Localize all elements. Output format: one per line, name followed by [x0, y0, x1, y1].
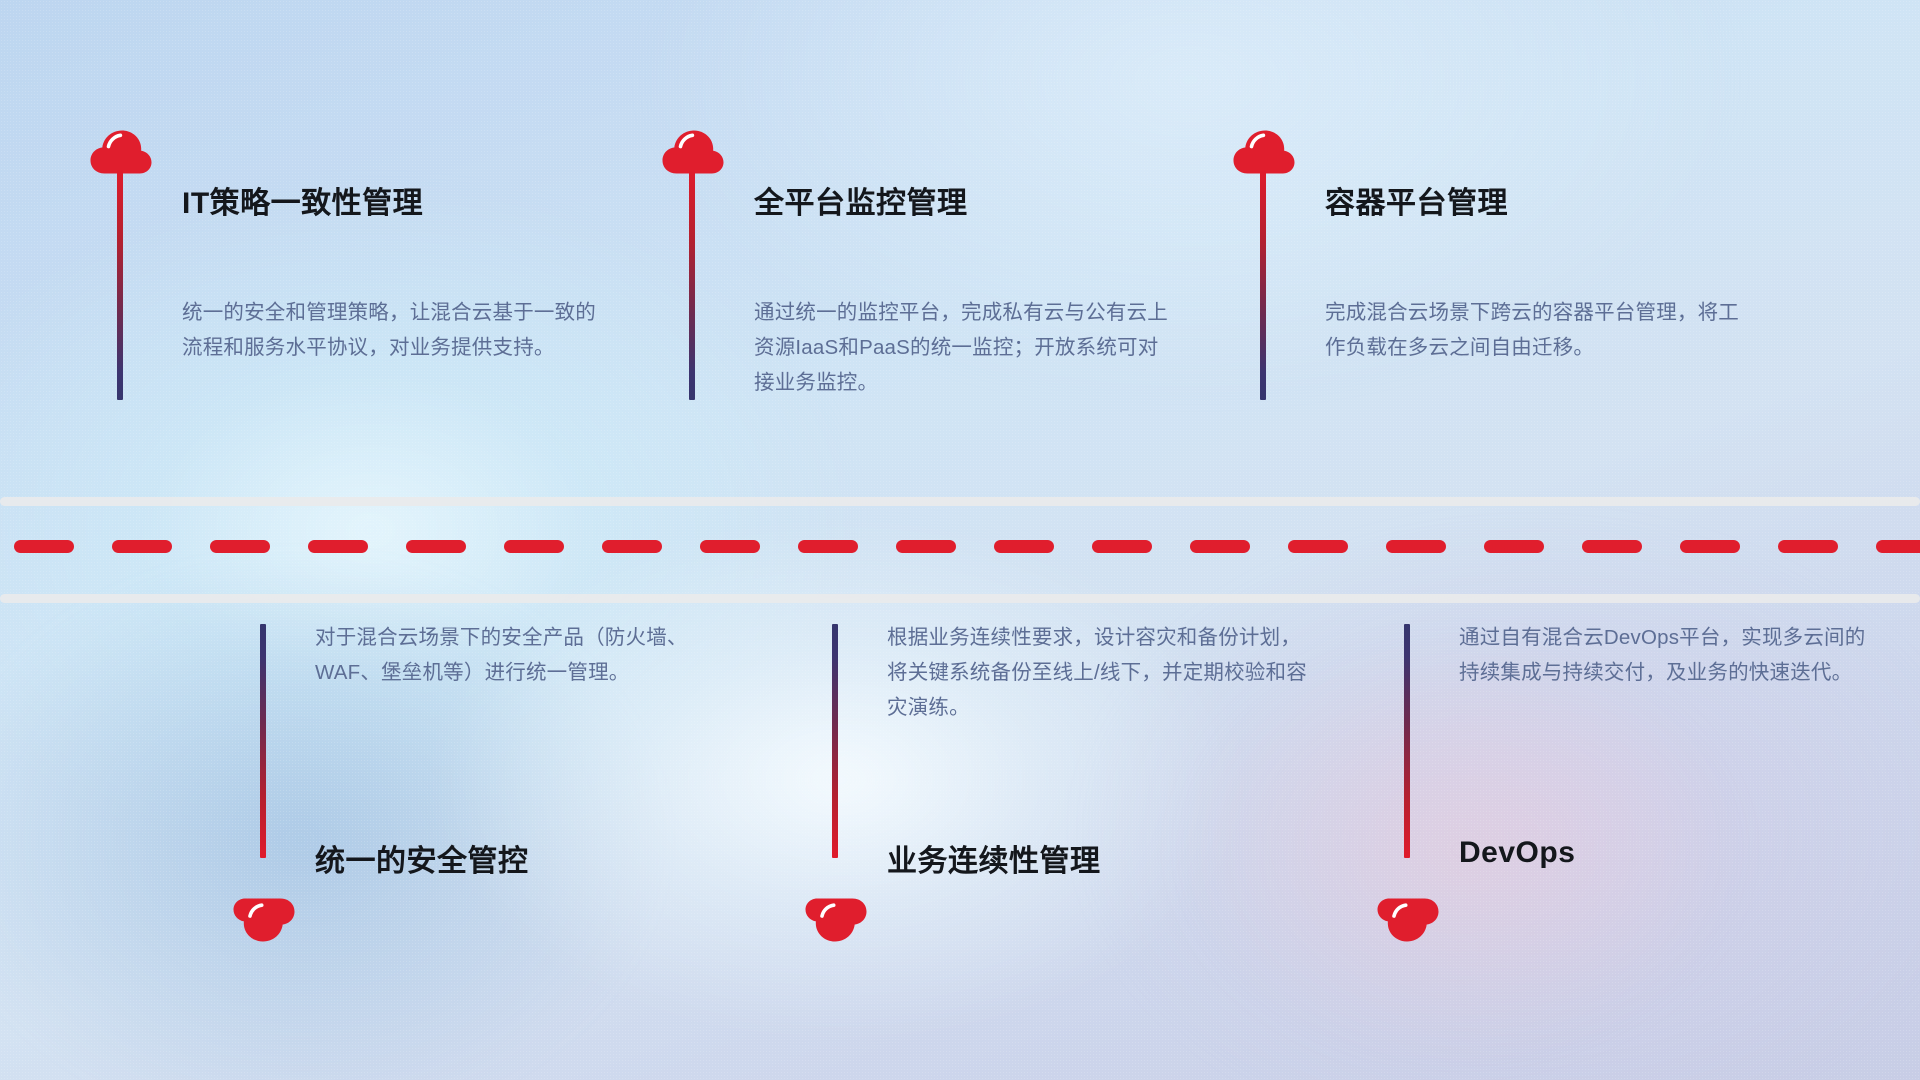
divider-dash [504, 540, 564, 553]
feature-heading: 全平台监控管理 [754, 178, 968, 222]
divider-dash [1092, 540, 1152, 553]
feature-heading: DevOps [1459, 836, 1575, 870]
feature-description: 通过统一的监控平台，完成私有云与公有云上资源IaaS和PaaS的统一监控；开放系… [754, 295, 1174, 400]
infographic-canvas: IT策略一致性管理 统一的安全和管理策略，让混合云基于一致的流程和服务水平协议，… [0, 0, 1920, 1080]
feature-description: 统一的安全和管理策略，让混合云基于一致的流程和服务水平协议，对业务提供支持。 [182, 295, 602, 365]
divider-dash [14, 540, 74, 553]
cloud-icon [90, 130, 152, 174]
divider-dashed-line [0, 540, 1920, 553]
divider-dash [994, 540, 1054, 553]
connector-stem [689, 170, 695, 400]
feature-heading: 容器平台管理 [1325, 178, 1508, 222]
divider-dash [1680, 540, 1740, 553]
cloud-icon [662, 130, 724, 174]
feature-heading: 统一的安全管控 [315, 836, 529, 880]
divider-dash [700, 540, 760, 553]
cloud-icon [1233, 130, 1295, 174]
divider-dash [1778, 540, 1838, 553]
divider-rule-bottom [0, 594, 1920, 603]
divider-dash [896, 540, 956, 553]
feature-description: 对于混合云场景下的安全产品（防火墙、WAF、堡垒机等）进行统一管理。 [315, 620, 735, 690]
divider-dash [1484, 540, 1544, 553]
divider-dash [210, 540, 270, 553]
divider-dash [1288, 540, 1348, 553]
feature-heading: IT策略一致性管理 [182, 178, 423, 222]
connector-stem [832, 624, 838, 858]
feature-description: 根据业务连续性要求，设计容灾和备份计划，将关键系统备份至线上/线下，并定期校验和… [887, 620, 1307, 725]
divider-rule-top [0, 497, 1920, 506]
divider-dash [406, 540, 466, 553]
cloud-icon [233, 898, 295, 942]
divider-dash [1386, 540, 1446, 553]
divider-dash [798, 540, 858, 553]
divider-dash [1190, 540, 1250, 553]
feature-heading: 业务连续性管理 [887, 836, 1101, 880]
divider-dash [1876, 540, 1920, 553]
connector-stem [1260, 170, 1266, 400]
connector-stem [117, 170, 123, 400]
connector-stem [1404, 624, 1410, 858]
background-bloom-lilac [1080, 520, 1920, 1080]
divider-dash [112, 540, 172, 553]
cloud-icon [1377, 898, 1439, 942]
divider-dash [602, 540, 662, 553]
divider-dash [1582, 540, 1642, 553]
connector-stem [260, 624, 266, 858]
feature-description: 完成混合云场景下跨云的容器平台管理，将工作负载在多云之间自由迁移。 [1325, 295, 1745, 365]
background-bloom-cyan [0, 180, 860, 880]
cloud-icon [805, 898, 867, 942]
divider-dash [308, 540, 368, 553]
feature-description: 通过自有混合云DevOps平台，实现多云间的持续集成与持续交付，及业务的快速迭代… [1459, 620, 1879, 690]
